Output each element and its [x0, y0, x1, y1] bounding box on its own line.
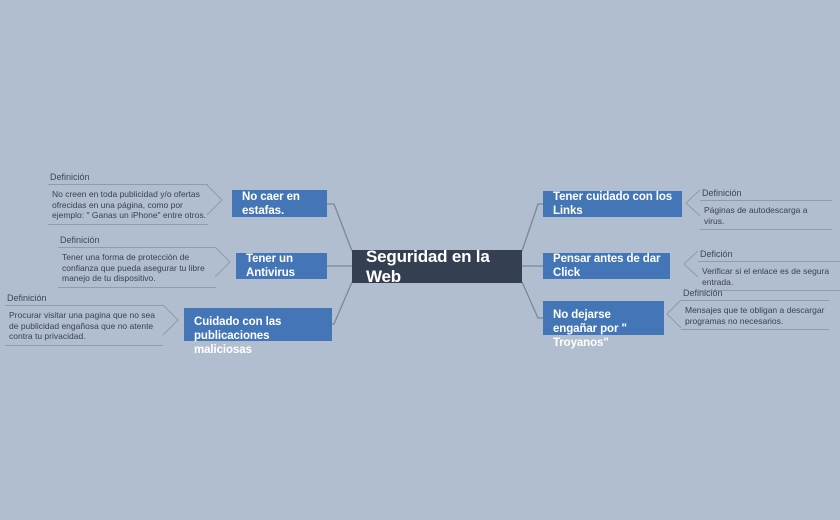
branch-node-label: Pensar antes de dar Click — [553, 252, 661, 280]
definition-callout-pensar-antes-de-dar-click: Defición Verificar si el enlace es de se… — [698, 249, 840, 291]
callout-bracket-right-2 — [684, 251, 698, 277]
definition-rule-bottom — [58, 287, 216, 288]
wire-right-3 — [522, 282, 543, 318]
branch-node-pensar-antes-de-dar-click[interactable]: Pensar antes de dar Click — [543, 253, 670, 279]
definition-text: No creen en toda publicidad y/o ofertas … — [48, 185, 208, 224]
branch-node-no-dejarse-enganar-por-troyanos[interactable]: No dejarse engañar por " Troyanos" — [543, 301, 664, 335]
wire-left-3 — [332, 282, 352, 324]
center-node[interactable]: Seguridad en la Web — [352, 250, 522, 283]
definition-label: Definición — [5, 293, 163, 304]
definition-callout-tener-cuidado-con-los-links: Definición Páginas de autodescarga a vir… — [700, 188, 832, 230]
definition-callout-tener-un-antivirus: Definición Tener una forma de protección… — [58, 235, 216, 288]
definition-rule-bottom — [48, 224, 208, 225]
definition-rule-bottom — [681, 329, 829, 330]
branch-node-label: Tener cuidado con los Links — [553, 190, 673, 218]
branch-node-label: Tener un Antivirus — [246, 252, 318, 280]
callout-bracket-left-3 — [163, 305, 178, 335]
center-node-label: Seguridad en la Web — [366, 247, 508, 287]
branch-node-label: No caer en estafas. — [242, 190, 318, 218]
definition-text: Mensajes que te obligan a descargar prog… — [681, 301, 829, 329]
definition-rule-bottom — [5, 345, 163, 346]
definition-label: Definición — [681, 288, 829, 299]
definition-label: Definición — [700, 188, 832, 199]
definition-rule-bottom — [700, 229, 832, 230]
wire-left-1 — [327, 204, 352, 251]
definition-text: Páginas de autodescarga a virus. — [700, 201, 832, 229]
callout-bracket-left-1 — [207, 185, 222, 215]
definition-callout-cuidado-publicaciones-maliciosas: Definición Procurar visitar una pagina q… — [5, 293, 163, 346]
branch-node-tener-un-antivirus[interactable]: Tener un Antivirus — [236, 253, 327, 279]
definition-label: Definición — [58, 235, 216, 246]
definition-callout-no-dejarse-enganar-por-troyanos: Definición Mensajes que te obligan a des… — [681, 288, 829, 330]
definition-callout-no-caer-en-estafas: Definición No creen en toda publicidad y… — [48, 172, 208, 225]
definition-text: Procurar visitar una pagina que no sea d… — [5, 306, 163, 345]
branch-node-cuidado-publicaciones-maliciosas[interactable]: Cuidado con las publicaciones maliciosas — [184, 308, 332, 341]
callout-bracket-left-2 — [215, 247, 230, 277]
mindmap-canvas: Seguridad en la Web No caer en estafas. … — [0, 0, 840, 520]
definition-text: Verificar si el enlace es de segura entr… — [698, 262, 840, 290]
definition-label: Defición — [698, 249, 840, 260]
callout-bracket-right-1 — [686, 190, 700, 216]
branch-node-label: No dejarse engañar por " Troyanos" — [553, 308, 655, 350]
definition-label: Definición — [48, 172, 208, 183]
branch-node-tener-cuidado-con-los-links[interactable]: Tener cuidado con los Links — [543, 191, 682, 217]
definition-text: Tener una forma de protección de confian… — [58, 248, 216, 287]
callout-bracket-right-3 — [667, 300, 681, 328]
branch-node-label: Cuidado con las publicaciones maliciosas — [194, 315, 323, 357]
wire-right-1 — [522, 204, 543, 251]
branch-node-no-caer-en-estafas[interactable]: No caer en estafas. — [232, 190, 327, 217]
